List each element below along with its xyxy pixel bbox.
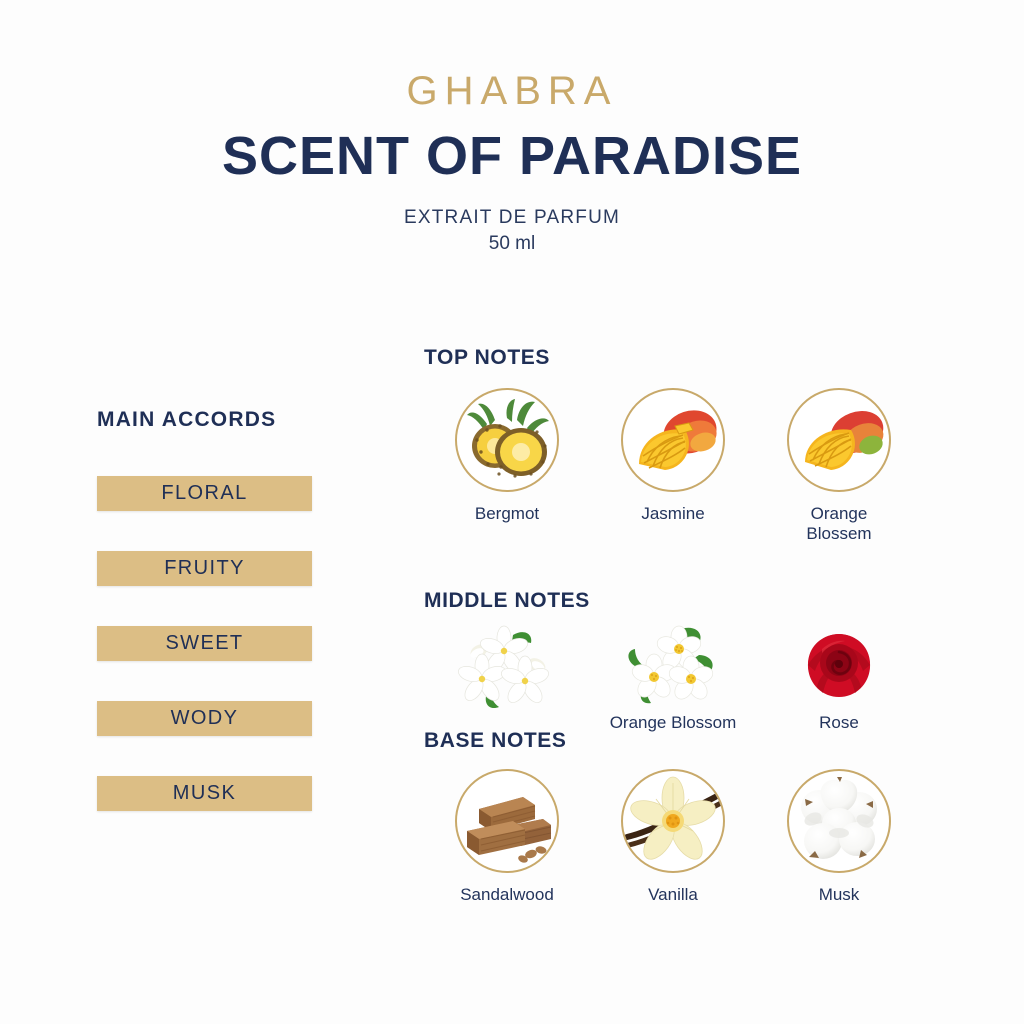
note-caption: Orange Blossem	[806, 504, 871, 544]
note-item-orange-blossem-top: Orange Blossem	[756, 388, 922, 544]
accord-bar-sweet: SWEET	[97, 626, 312, 661]
note-item-sandalwood: Sandalwood	[424, 769, 590, 905]
note-item-orange-blossom-middle: Orange Blossom	[590, 621, 756, 733]
jasmine-art	[457, 621, 557, 713]
middle-notes-title: MIDDLE NOTES	[424, 589, 922, 613]
note-item-rose-middle: Rose	[756, 621, 922, 733]
orange-blossom-art	[623, 621, 723, 713]
mango-art	[623, 390, 723, 490]
cotton-boll-icon	[787, 769, 891, 873]
note-item-bergmot: Bergmot	[424, 388, 590, 544]
main-accords-panel: MAIN ACCORDS FLORAL FRUITY SWEET WODY MU…	[97, 408, 312, 811]
cotton-art	[789, 771, 889, 871]
accord-bar-wody: WODY	[97, 701, 312, 736]
accord-label: SWEET	[165, 632, 243, 655]
orange-blossom-icon	[623, 621, 723, 713]
base-notes-row: Sandalwood	[424, 769, 922, 905]
base-notes-title: BASE NOTES	[424, 729, 922, 753]
accord-label: FRUITY	[164, 557, 245, 580]
main-accords-title: MAIN ACCORDS	[97, 408, 312, 432]
page-title: SCENT OF PARADISE	[0, 128, 1024, 185]
top-notes-section: TOP NOTES	[424, 346, 922, 544]
note-caption: Vanilla	[648, 885, 698, 905]
pineapple-art	[457, 390, 557, 490]
note-caption: Jasmine	[641, 504, 704, 524]
header: GHABRA SCENT OF PARADISE EXTRAIT DE PARF…	[0, 70, 1024, 255]
base-notes-section: BASE NOTES	[424, 729, 922, 905]
note-caption: Bergmot	[475, 504, 539, 524]
mango-icon	[621, 388, 725, 492]
sandalwood-art	[457, 771, 557, 871]
top-notes-row: Bergmot	[424, 388, 922, 544]
accord-bar-fruity: FRUITY	[97, 551, 312, 586]
sandalwood-icon	[455, 769, 559, 873]
accord-list: FLORAL FRUITY SWEET WODY MUSK	[97, 476, 312, 811]
accord-label: MUSK	[173, 782, 236, 805]
jasmine-flower-icon	[457, 621, 557, 713]
accord-label: WODY	[171, 707, 239, 730]
middle-notes-section: MIDDLE NOTES	[424, 589, 922, 733]
accord-label: FLORAL	[161, 482, 247, 505]
note-caption: Sandalwood	[460, 885, 554, 905]
concentration-label: EXTRAIT DE PARFUM	[0, 207, 1024, 229]
brand-name: GHABRA	[0, 70, 1024, 112]
middle-notes-row: Orange Blossom	[424, 621, 922, 733]
vanilla-art	[623, 771, 723, 871]
rose-icon	[789, 621, 889, 713]
vanilla-icon	[621, 769, 725, 873]
volume-label: 50 ml	[0, 233, 1024, 255]
accord-bar-floral: FLORAL	[97, 476, 312, 511]
note-item-jasmine-top: Jasmine	[590, 388, 756, 544]
accord-bar-musk: MUSK	[97, 776, 312, 811]
pineapple-icon	[455, 388, 559, 492]
note-item-musk: Musk	[756, 769, 922, 905]
rose-art	[789, 621, 889, 713]
top-notes-title: TOP NOTES	[424, 346, 922, 370]
note-item-jasmine-middle	[424, 621, 590, 733]
mango-icon	[787, 388, 891, 492]
note-caption: Musk	[819, 885, 860, 905]
mango-art	[789, 390, 889, 490]
note-item-vanilla: Vanilla	[590, 769, 756, 905]
perfume-infographic: GHABRA SCENT OF PARADISE EXTRAIT DE PARF…	[0, 0, 1024, 1024]
